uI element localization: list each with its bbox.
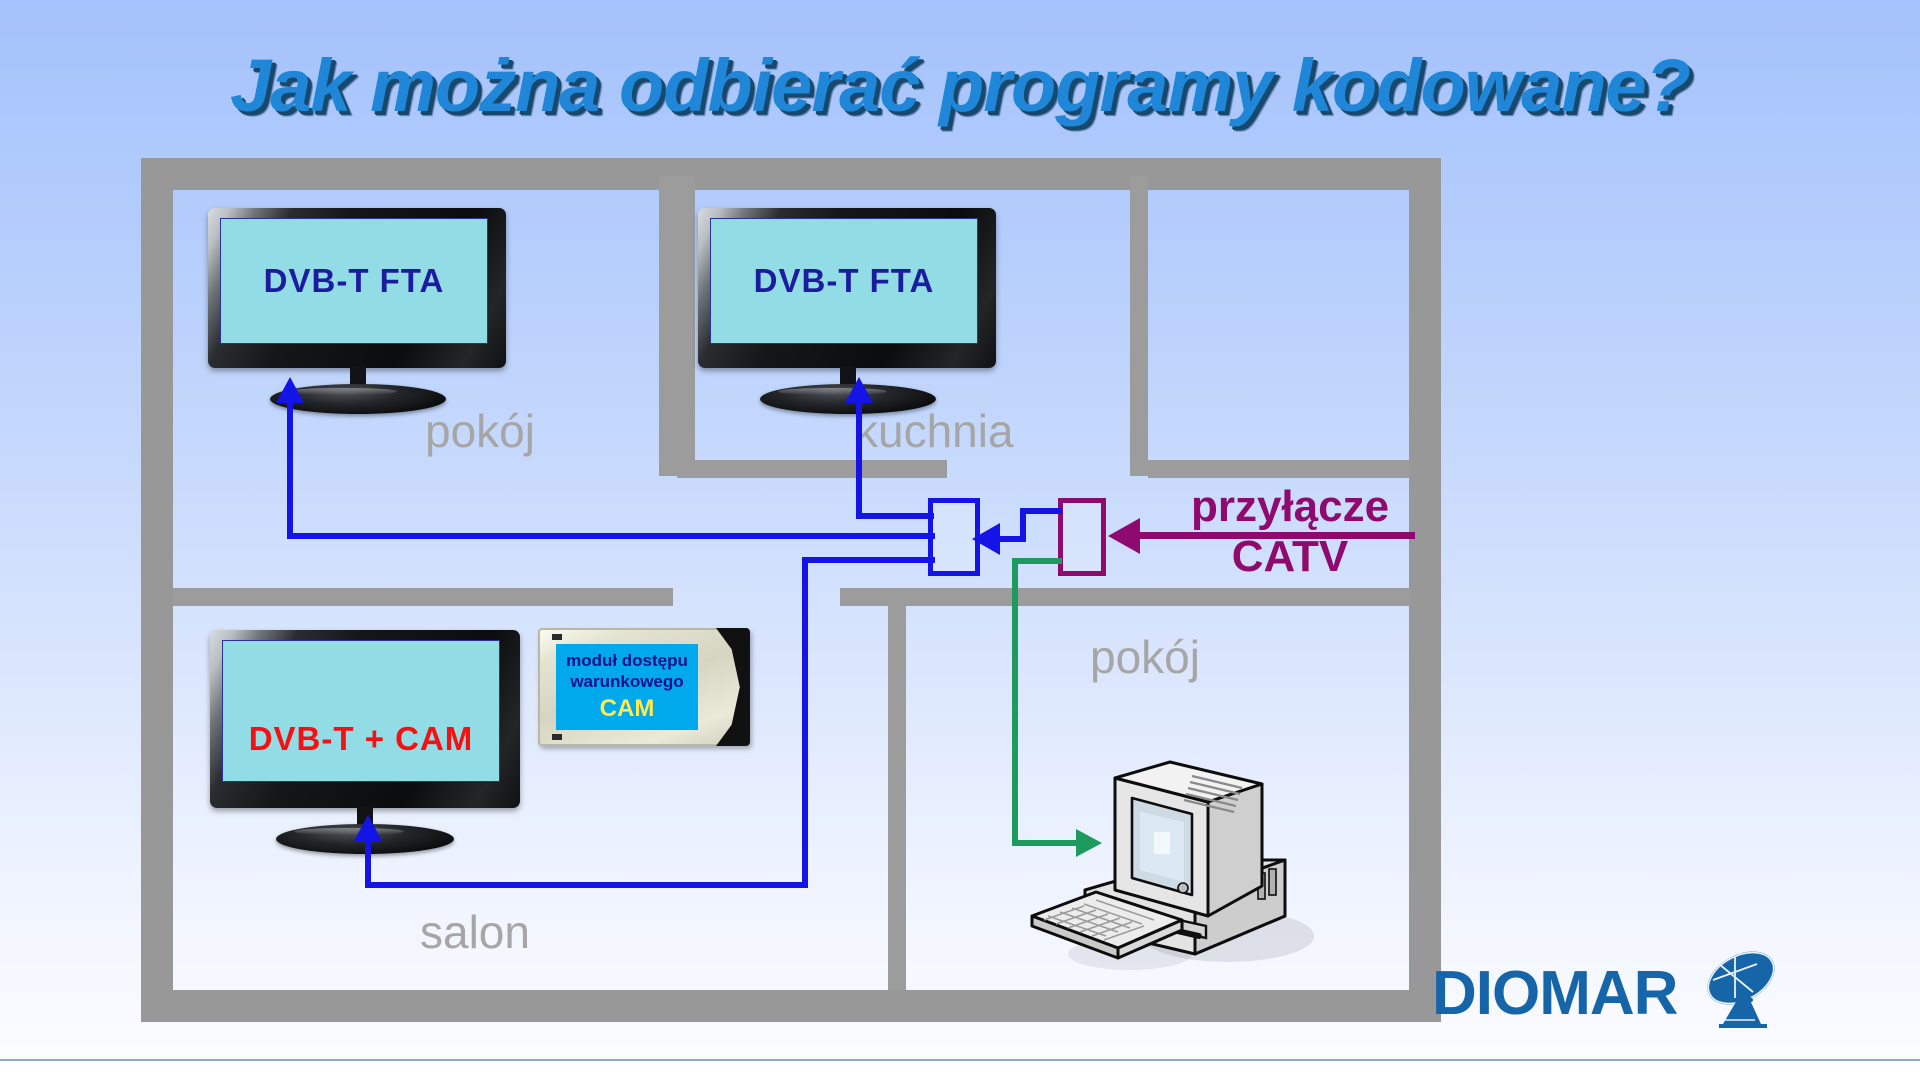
wall-outer-left [141, 158, 173, 1022]
cable-pc-horiz-top [1012, 558, 1062, 564]
tv-screen-text: DVB-T FTA [754, 262, 935, 300]
wall-middle-divider-right [840, 588, 1410, 606]
room-label-salon: salon [420, 905, 530, 959]
wall-outer-top [141, 158, 1441, 190]
cable-outlet-to-splitter-top [1020, 508, 1062, 514]
cable-splitter-pokoj-vert [287, 400, 293, 539]
logo-text: DIOMAR [1432, 958, 1677, 1029]
tv-screen: DVB-T + CAM [222, 640, 500, 782]
tv-salon: DVB-T + CAM [210, 630, 520, 808]
cable-splitter-kuchnia-horiz [856, 513, 934, 519]
tv-screen: DVB-T FTA [220, 218, 488, 344]
cam-module: moduł dostępu warunkowego CAM [538, 628, 750, 746]
arrow-salon-tv [354, 815, 382, 841]
wall-outer-bottom [141, 990, 1441, 1022]
arrow-into-splitter [972, 523, 1000, 555]
wall-kuchnia-bottom [677, 460, 947, 478]
cam-corner-bl [552, 734, 562, 740]
arrow-pokoj-tv [276, 377, 304, 403]
slide-canvas: Jak można odbierać programy kodowane? po… [0, 0, 1920, 1060]
cam-corner-tl [552, 634, 562, 640]
cam-label: moduł dostępu warunkowego CAM [556, 644, 698, 730]
computer-illustration [1010, 740, 1340, 980]
tv-screen-text: DVB-T + CAM [249, 720, 474, 758]
cable-splitter-salon-horiz-bot [365, 882, 808, 888]
page-title: Jak można odbierać programy kodowane? [0, 38, 1920, 134]
wall-salon-right [888, 588, 906, 990]
cam-line-2: warunkowego [570, 672, 683, 692]
diomar-logo: DIOMAR [1432, 950, 1781, 1037]
cable-splitter-pokoj-horiz [287, 533, 935, 539]
tv-screen-text: DVB-T FTA [264, 262, 445, 300]
desktop-computer [1010, 740, 1340, 980]
catv-caption-line-1: przyłącze [1130, 482, 1450, 532]
wall-kuchnia-right [1130, 176, 1148, 476]
cable-splitter-kuchnia-vert [856, 400, 862, 519]
cable-splitter-salon-vert [802, 557, 808, 888]
satellite-dish-icon [1689, 950, 1781, 1037]
cable-outlet-to-splitter-bot [1000, 536, 1026, 542]
cam-line-1: moduł dostępu [566, 651, 688, 671]
tv-screen: DVB-T FTA [710, 218, 978, 344]
wall-outer-right [1409, 158, 1441, 1022]
wall-middle-divider-left [173, 588, 673, 606]
catv-caption-line-2: CATV [1130, 532, 1450, 582]
wall-pokoj-right [659, 176, 677, 476]
cable-splitter-salon-horiz-top [802, 557, 935, 563]
cam-line-3: CAM [600, 695, 655, 723]
room-label-pokoj-top: pokój [425, 404, 535, 458]
cable-salon-riser [365, 838, 371, 888]
arrow-kuchnia-tv [845, 377, 873, 403]
wall-kuchnia-bottom-right [1148, 460, 1410, 478]
cam-notch [716, 628, 750, 746]
catv-outlet-box[interactable] [1058, 498, 1106, 576]
catv-caption: przyłącze CATV [1130, 482, 1450, 582]
room-label-pokoj-bottom: pokój [1090, 630, 1200, 684]
tv-kuchnia: DVB-T FTA [698, 208, 996, 368]
tv-pokoj: DVB-T FTA [208, 208, 506, 368]
wall-kuchnia-left [677, 176, 695, 476]
slide-bottom-rule [0, 1059, 1920, 1061]
